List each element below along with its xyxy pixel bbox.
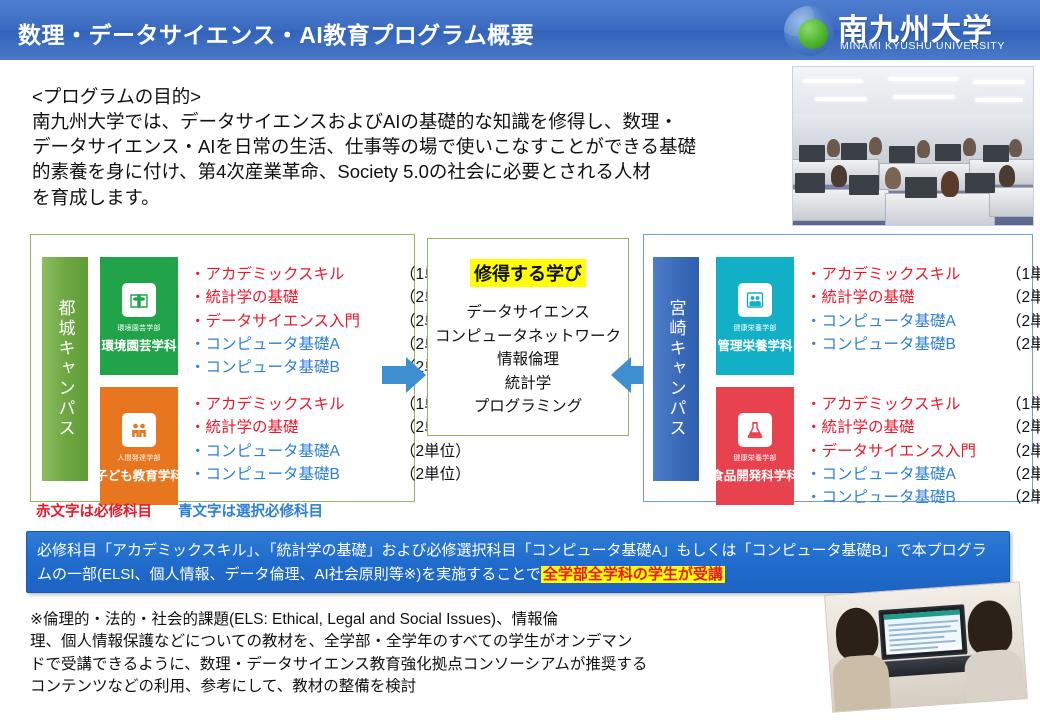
department-row: 健康栄養学部 管理栄養学科 ・アカデミックスキル（1単位） ・統計学の基礎（2単…: [716, 257, 1040, 375]
callout-highlight: 全学部全学科の学生が受講: [541, 566, 725, 583]
course-list: ・アカデミックスキル（1単位） ・統計学の基礎（2単位） ・コンピュータ基礎A（…: [806, 257, 1040, 356]
faculty-name: 健康栄養学部: [733, 323, 776, 333]
callout-text: 必修科目「アカデミックスキル」、「統計学の基礎」および必修選択科目「コンピュータ…: [37, 542, 987, 583]
course-name: ・コンピュータ基礎B: [806, 486, 1006, 509]
department-card-shokuhin-kaihatsu: 健康栄養学部 食品開発科学科: [716, 387, 794, 505]
logo-name-en: MINAMI KYUSHU UNIVERSITY: [840, 40, 1005, 52]
learning-outcomes-title: 修得する学び: [470, 259, 586, 287]
course-credit: （2単位）: [400, 440, 471, 463]
department-name: 子ども教育学科: [95, 465, 183, 484]
course-name: ・コンピュータ基礎B: [806, 333, 1006, 356]
department-name: 食品開発科学科: [711, 465, 799, 484]
course-name: ・コンピュータ基礎A: [806, 310, 1006, 333]
course-name: ・アカデミックスキル: [806, 263, 1006, 286]
university-logo: 南九州大学 MINAMI KYUSHU UNIVERSITY: [782, 3, 1032, 59]
slide-root: 数理・データサイエンス・AI教育プログラム概要 南九州大学 MINAMI KYU…: [0, 0, 1040, 720]
logo-mark-icon: [784, 6, 834, 56]
learning-topic: 情報倫理: [497, 348, 559, 372]
course-name: ・データサイエンス入門: [190, 310, 400, 333]
course-name: ・アカデミックスキル: [190, 393, 400, 416]
students-laptop-photo: [824, 581, 1028, 712]
course-name: ・コンピュータ基礎B: [190, 356, 400, 379]
course-name: ・アカデミックスキル: [190, 263, 400, 286]
course-credit: （2単位）: [1006, 333, 1040, 356]
course-name: ・アカデミックスキル: [806, 393, 1006, 416]
course-name: ・データサイエンス入門: [806, 440, 1006, 463]
page-header: 数理・データサイエンス・AI教育プログラム概要 南九州大学 MINAMI KYU…: [0, 0, 1040, 62]
faculty-name: 環境園芸学部: [117, 323, 160, 333]
learning-topic: データサイエンス: [466, 301, 590, 325]
two-people-icon: [738, 283, 772, 317]
campus-panel-miyakonojo: 都城キャンパス 環境園芸学部 環境園芸学科: [30, 234, 415, 502]
course-name: ・コンピュータ基礎B: [190, 463, 400, 486]
faculty-name: 人間発達学部: [117, 453, 160, 463]
learning-topic: コンピュータネットワーク: [435, 325, 621, 349]
course-credit: （1単位）: [1006, 263, 1040, 286]
children-icon: [122, 413, 156, 447]
arrow-right-icon: [382, 355, 426, 395]
course-credit: （2単位）: [400, 463, 471, 486]
learning-outcomes-box: 修得する学び データサイエンス コンピュータネットワーク 情報倫理 統計学 プロ…: [427, 238, 629, 436]
course-credit: （2単位）: [1006, 310, 1040, 333]
page-title: 数理・データサイエンス・AI教育プログラム概要: [18, 16, 534, 50]
course-list: ・アカデミックスキル（1単位） ・統計学の基礎（2単位） ・データサイエンス入門…: [806, 387, 1040, 509]
learning-topic: プログラミング: [474, 395, 583, 419]
course-credit: （2単位）: [1006, 463, 1040, 486]
course-name: ・統計学の基礎: [806, 416, 1006, 439]
course-name: ・統計学の基礎: [190, 416, 400, 439]
course-credit: （2単位）: [1006, 440, 1040, 463]
department-name: 環境園芸学科: [101, 335, 176, 354]
faculty-name: 健康栄養学部: [733, 453, 776, 463]
legend-required: 赤文字は必修科目: [36, 504, 152, 520]
footnote-text: ※倫理的・法的・社会的課題(ELS: Ethical, Legal and So…: [30, 609, 730, 698]
program-purpose-text: <プログラムの目的> 南九州大学では、データサイエンスおよびAIの基礎的な知識を…: [32, 84, 732, 210]
campus-name: 都城キャンパス: [53, 299, 78, 439]
course-credit: （1単位）: [1006, 393, 1040, 416]
campus-label-miyakonojo: 都城キャンパス: [42, 257, 88, 481]
course-name: ・コンピュータ基礎A: [806, 463, 1006, 486]
course-credit: （2単位）: [1006, 286, 1040, 309]
campus-name: 宮崎キャンパス: [664, 299, 689, 439]
legend: 赤文字は必修科目 青文字は選択必修科目: [36, 500, 323, 521]
department-card-kanri-eiyo: 健康栄養学部 管理栄養学科: [716, 257, 794, 375]
campus-panel-miyazaki: 宮崎キャンパス 健康栄養学部 管理栄養学科 ・アカデミックスキル（1: [643, 234, 1033, 502]
department-row: 健康栄養学部 食品開発科学科 ・アカデミックスキル（1単位） ・統計学の基礎（2…: [716, 387, 1040, 509]
course-credit: （2単位）: [1006, 416, 1040, 439]
flask-icon: [738, 413, 772, 447]
course-name: ・コンピュータ基礎A: [190, 440, 400, 463]
campus-label-miyazaki: 宮崎キャンパス: [653, 257, 699, 481]
course-credit: （2単位）: [1006, 486, 1040, 509]
legend-elective: 青文字は選択必修科目: [178, 504, 323, 520]
course-name: ・統計学の基礎: [806, 286, 1006, 309]
department-card-kankyo-engei: 環境園芸学部 環境園芸学科: [100, 257, 178, 375]
course-name: ・コンピュータ基礎A: [190, 333, 400, 356]
computer-lab-photo: [792, 66, 1034, 226]
department-card-kodomo-kyoiku: 人間発達学部 子ども教育学科: [100, 387, 178, 505]
book-plant-icon: [122, 283, 156, 317]
department-row: 人間発達学部 子ども教育学科 ・アカデミックスキル（1単位） ・統計学の基礎（2…: [100, 387, 471, 505]
learning-topic: 統計学: [505, 372, 552, 396]
program-callout: 必修科目「アカデミックスキル」、「統計学の基礎」および必修選択科目「コンピュータ…: [26, 531, 1010, 593]
department-name: 管理栄養学科: [717, 335, 792, 354]
course-name: ・統計学の基礎: [190, 286, 400, 309]
